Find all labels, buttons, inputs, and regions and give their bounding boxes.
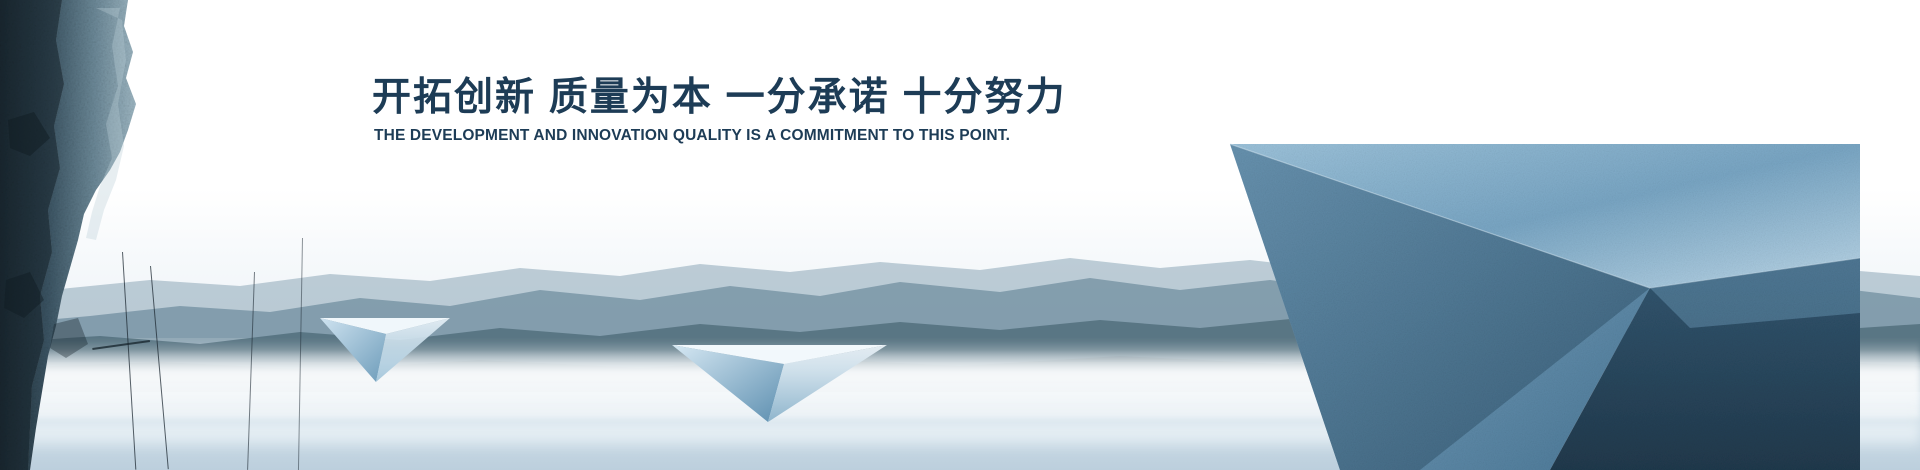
hero-banner: 开拓创新 质量为本 一分承诺 十分努力 THE DEVELOPMENT AND … <box>0 0 1920 470</box>
banner-text-block: 开拓创新 质量为本 一分承诺 十分努力 THE DEVELOPMENT AND … <box>372 76 1067 145</box>
inverted-pyramid-small-left-icon <box>320 312 450 382</box>
inverted-pyramid-small-center-icon <box>672 340 887 422</box>
rock-cliff-left <box>0 0 180 470</box>
inverted-pyramid-large-icon <box>1220 138 1860 470</box>
page-subtitle: THE DEVELOPMENT AND INNOVATION QUALITY I… <box>374 127 1067 145</box>
page-title: 开拓创新 质量为本 一分承诺 十分努力 <box>372 76 1067 120</box>
